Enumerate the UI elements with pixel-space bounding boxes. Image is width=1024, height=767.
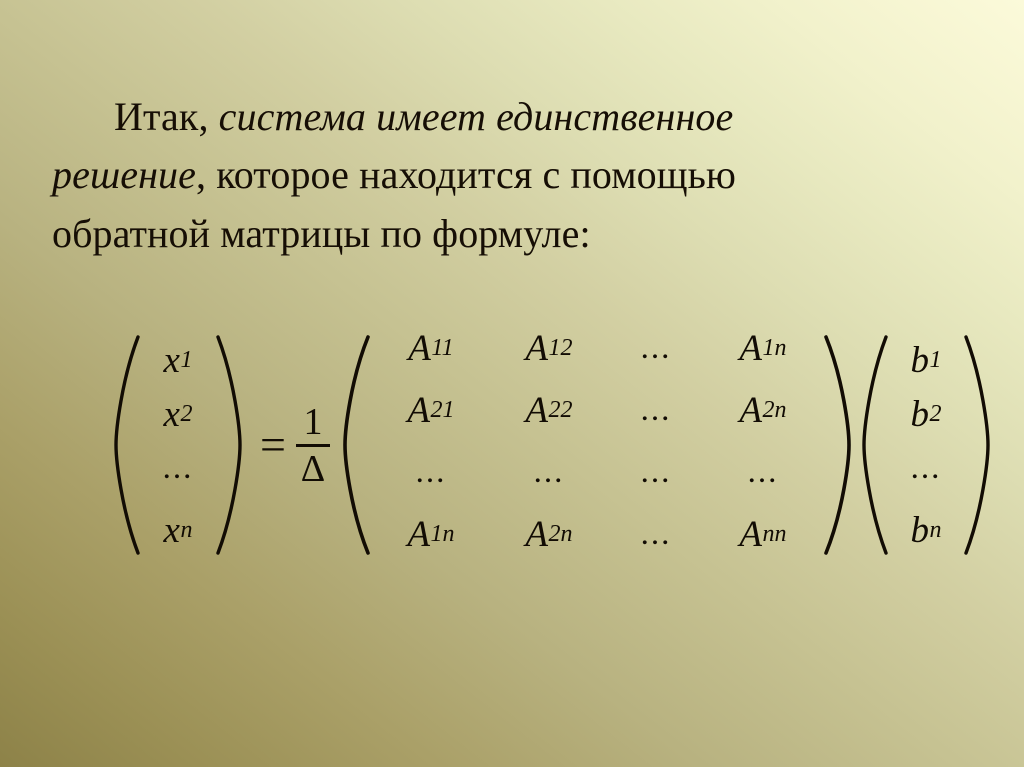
fraction-bar: [296, 444, 330, 447]
matrix-cell: Ann: [704, 507, 822, 561]
cell-base: A: [525, 516, 548, 553]
matrix-cell: A1n: [704, 321, 822, 375]
a-matrix-body: A11 A12 ... A1n A21 A22 ... A2n ... ... …: [372, 321, 822, 569]
cell-subscript: 12: [549, 336, 573, 360]
text-line-1: Итак, система имеет единственное: [52, 88, 972, 146]
matrix-cell: A2n: [704, 383, 822, 437]
cell-subscript: 2: [929, 402, 941, 426]
matrix-cell-ellipsis: ...: [372, 445, 490, 507]
x-vector-cell: x2: [142, 387, 214, 441]
right-paren-a-matrix: [822, 333, 854, 557]
matrix-cell-ellipsis: ...: [608, 507, 704, 569]
text-line-3-plain: обратной матрицы по формуле:: [52, 211, 591, 256]
cell-subscript: 1n: [431, 522, 455, 546]
matrix-equation: x1 x2 ... xn = 1 Δ A11 A12: [112, 332, 992, 558]
matrix-row: A11 A12 ... A1n: [372, 321, 822, 383]
text-line-1-plain: Итак,: [114, 94, 209, 139]
cell-base: A: [407, 392, 430, 429]
cell-base: b: [910, 396, 929, 433]
cell-base: A: [525, 330, 548, 367]
matrix-cell: A21: [372, 383, 490, 437]
matrix-cell-ellipsis: ...: [490, 445, 608, 507]
text-line-2: решение, которое находится с помощью: [52, 146, 972, 204]
slide-body-text: Итак, система имеет единственное решение…: [52, 88, 972, 263]
b-vector-cell: b1: [890, 333, 962, 387]
cell-subscript: 1n: [763, 336, 787, 360]
cell-base: A: [525, 392, 548, 429]
b-vector-ellipsis: ...: [890, 441, 962, 503]
cell-subscript: 21: [431, 398, 455, 422]
text-line-2-plain: , которое находится с помощью: [196, 152, 736, 197]
b-vector-cell: b2: [890, 387, 962, 441]
cell-subscript: 1: [929, 348, 941, 372]
matrix-cell: A12: [490, 321, 608, 375]
matrix-cell: A2n: [490, 507, 608, 561]
matrix-cell-ellipsis: ...: [704, 445, 822, 507]
cell-base: x: [164, 396, 180, 433]
cell-base: x: [164, 512, 180, 549]
x-vector-cell: x1: [142, 333, 214, 387]
x-vector-cell: xn: [142, 503, 214, 557]
x-vector-body: x1 x2 ... xn: [142, 333, 214, 557]
cell-subscript: 2: [180, 402, 192, 426]
cell-base: A: [739, 516, 762, 553]
cell-subscript: 2n: [763, 398, 787, 422]
fraction-denominator: Δ: [301, 448, 325, 490]
matrix-row: A1n A2n ... Ann: [372, 507, 822, 569]
cell-subscript: n: [180, 518, 192, 542]
cell-subscript: nn: [763, 522, 787, 546]
b-vector-cell: bn: [890, 503, 962, 557]
b-vector-body: b1 b2 ... bn: [890, 333, 962, 557]
matrix-cell-ellipsis: ...: [608, 445, 704, 507]
cell-base: x: [164, 342, 180, 379]
cell-subscript: 1: [180, 348, 192, 372]
left-paren-a-matrix: [340, 333, 372, 557]
fraction-one-over-delta: 1 Δ: [296, 401, 330, 490]
slide-canvas: Итак, система имеет единственное решение…: [0, 0, 1024, 767]
cell-subscript: 22: [549, 398, 573, 422]
matrix-cell-ellipsis: ...: [608, 383, 704, 445]
left-paren-x-vector: [112, 333, 142, 557]
right-paren-b-vector: [962, 333, 992, 557]
cell-base: b: [910, 342, 929, 379]
equals-sign: =: [244, 422, 292, 468]
x-vector-ellipsis: ...: [142, 441, 214, 503]
text-line-2-italic: решение: [52, 152, 196, 197]
cell-subscript: 2n: [549, 522, 573, 546]
matrix-row: A21 A22 ... A2n: [372, 383, 822, 445]
text-line-3: обратной матрицы по формуле:: [52, 205, 972, 263]
matrix-cell-ellipsis: ...: [608, 321, 704, 383]
text-line-1-italic: система имеет единственное: [219, 94, 734, 139]
cell-subscript: 11: [431, 336, 453, 360]
cell-base: b: [910, 512, 929, 549]
matrix-cell: A22: [490, 383, 608, 437]
matrix-row: ... ... ... ...: [372, 445, 822, 507]
cell-base: A: [408, 330, 431, 367]
matrix-cell: A1n: [372, 507, 490, 561]
right-paren-x-vector: [214, 333, 244, 557]
cell-subscript: n: [929, 518, 941, 542]
fraction-numerator: 1: [303, 401, 322, 443]
matrix-cell: A11: [372, 321, 490, 375]
cell-base: A: [407, 516, 430, 553]
cell-base: A: [739, 330, 762, 367]
cell-base: A: [739, 392, 762, 429]
left-paren-b-vector: [860, 333, 890, 557]
